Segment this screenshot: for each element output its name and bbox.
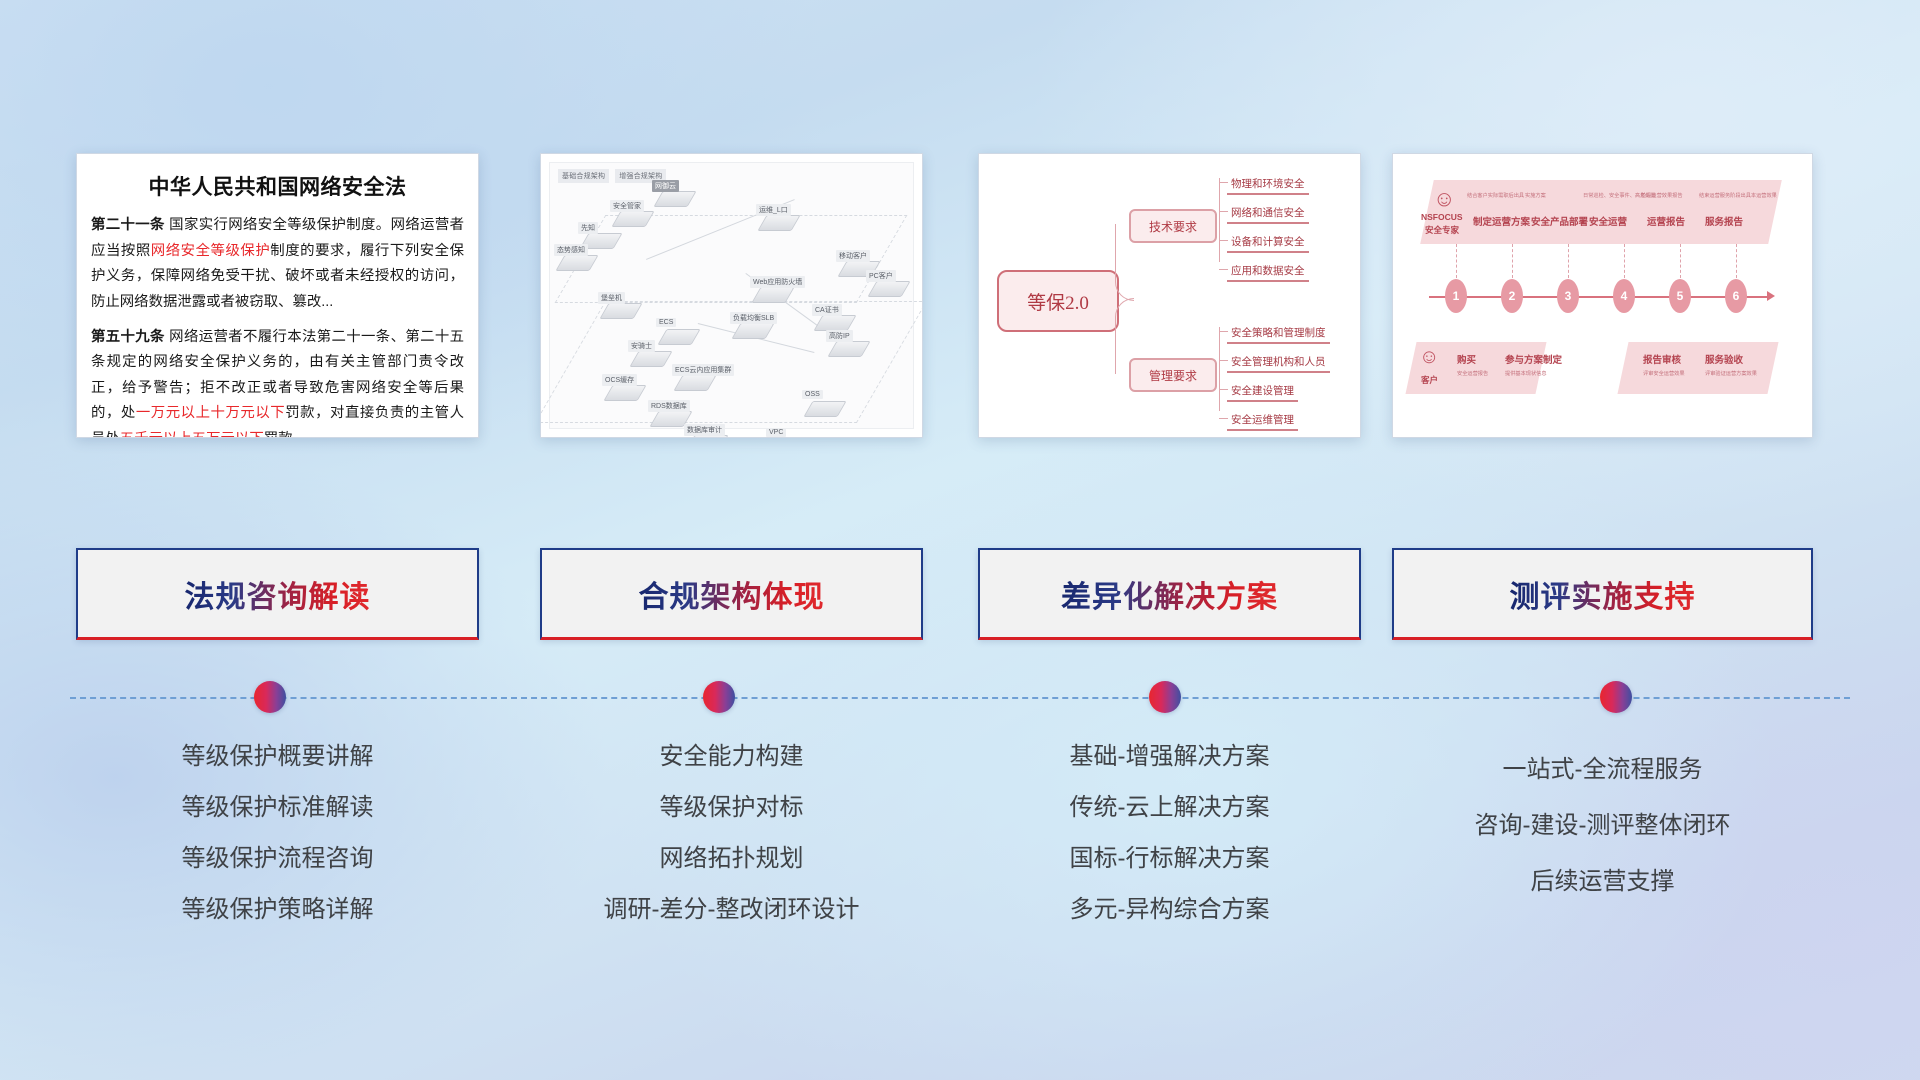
- feature-list-item: 多元-异构综合方案: [978, 898, 1361, 922]
- title-label: 测评实施支持: [1510, 572, 1696, 616]
- expert-person-icon: ☺: [1433, 186, 1455, 212]
- architecture-node-label: ECS: [656, 318, 676, 327]
- roadmap-bottom-item-sub: 提供基本现状信息: [1505, 370, 1547, 377]
- feature-list-item: 传统-云上解决方案: [978, 796, 1361, 820]
- customer-person-icon: ☺: [1419, 346, 1439, 369]
- mindmap-leaf-connector: [1219, 211, 1228, 213]
- architecture-node-shape: [803, 401, 846, 417]
- card-dengbao-mindmap: 等保2.0 技术要求 管理要求 物理和环境安全网络和通信安全设备和计算安全应用和…: [978, 153, 1361, 438]
- roadmap-step-marker[interactable]: 2: [1501, 279, 1523, 313]
- feature-list-item: 咨询-建设-测评整体闭环: [1392, 814, 1813, 838]
- mindmap-spine-management: [1219, 327, 1220, 411]
- mindmap: 等保2.0 技术要求 管理要求 物理和环境安全网络和通信安全设备和计算安全应用和…: [987, 162, 1352, 429]
- roadmap-bottom-item-title: 购买: [1457, 352, 1476, 366]
- architecture-node-shape: [657, 329, 700, 345]
- architecture-node-label: Web应用防火墙: [750, 276, 805, 288]
- architecture-node-label: OCS缓存: [602, 374, 637, 386]
- roadmap-step-marker[interactable]: 6: [1725, 279, 1747, 313]
- architecture-node: 运维_L口: [762, 215, 796, 231]
- architecture-node: 安骑士: [634, 351, 668, 367]
- architecture-diagram: 基础合规架构 增强合规架构 网御云安全管家先知态势感知堡垒机ECS安骑士OCS缓…: [549, 162, 914, 429]
- roadmap-bottom-item-sub: 评审验证运营方案效果: [1705, 370, 1757, 377]
- architecture-node: ECS云内应用集群: [678, 375, 712, 391]
- feature-list-item: 等级保护策略详解: [76, 898, 479, 922]
- roadmap-step-tick: [1736, 244, 1737, 278]
- feature-list-architecture: 安全能力构建等级保护对标网络拓扑规划调研-差分-整改闭环设计: [540, 745, 923, 949]
- roadmap-bottom-item-title: 服务验收: [1705, 352, 1743, 366]
- mindmap-leaf-connector: [1219, 360, 1228, 362]
- timeline-dot-1[interactable]: [254, 681, 286, 713]
- title-label: 差异化解决方案: [1061, 572, 1278, 616]
- architecture-node-label: 堡垒机: [598, 292, 625, 304]
- architecture-node-label: OSS: [802, 390, 823, 399]
- law-text-highlight: 网络安全等级保护: [151, 243, 271, 259]
- roadmap-step-marker[interactable]: 1: [1445, 279, 1467, 313]
- card-service-roadmap: ☺ NSFOCUS 安全专家 ☺ 客户 123456 结合客户实际需职后出具制定…: [1392, 153, 1813, 438]
- feature-list-item: 等级保护对标: [540, 796, 923, 820]
- roadmap-step-tick: [1680, 244, 1681, 278]
- mindmap-leaf-connector: [1219, 269, 1228, 271]
- mindmap-leaf: 安全运维管理: [1227, 412, 1298, 431]
- roadmap-bottom-item-sub: 评审安全运营效果: [1643, 370, 1685, 377]
- architecture-node: 网御云: [658, 191, 692, 207]
- architecture-node: CA证书: [818, 315, 852, 331]
- feature-list-solution: 基础-增强解决方案传统-云上解决方案国标-行标解决方案多元-异构综合方案: [978, 745, 1361, 949]
- mindmap-leaf: 安全管理机构和人员: [1227, 354, 1330, 373]
- architecture-node-shape: [603, 385, 646, 401]
- mindmap-leaf-connector: [1219, 240, 1228, 242]
- feature-list-item: 安全能力构建: [540, 745, 923, 769]
- roadmap-top-item-sub: 阶段运营效果报告: [1641, 192, 1683, 199]
- title-label: 合规架构体现: [639, 572, 825, 616]
- mindmap-branch-technical: 技术要求: [1129, 209, 1217, 243]
- architecture-node-label: 移动客户: [836, 250, 870, 262]
- law-article-number: 第五十九条: [91, 329, 165, 345]
- roadmap-step-tick: [1568, 244, 1569, 278]
- feature-list-item: 一站式-全流程服务: [1392, 758, 1813, 782]
- roadmap-step-tick: [1512, 244, 1513, 278]
- architecture-node-shape: [599, 303, 642, 319]
- mindmap-leaf: 网络和通信安全: [1227, 205, 1309, 224]
- roadmap-top-item-title: 服务报告: [1705, 214, 1743, 228]
- roadmap-top-item-title: 安全产品部署: [1531, 214, 1588, 228]
- architecture-node: PC客户: [872, 281, 906, 297]
- law-text-segment: 罚款。: [264, 431, 307, 438]
- timeline-dot-4[interactable]: [1600, 681, 1632, 713]
- law-card-body: 第二十一条 国家实行网络安全等级保护制度。网络运营者应当按照网络安全等级保护制度…: [77, 213, 478, 438]
- feature-list-item: 基础-增强解决方案: [978, 745, 1361, 769]
- architecture-tabs: 基础合规架构 增强合规架构: [558, 169, 666, 183]
- mindmap-leaf-connector: [1219, 418, 1228, 420]
- law-paragraph-59: 第五十九条 网络运营者不履行本法第二十一条、第二十五条规定的网络安全保护义务的，…: [91, 325, 464, 438]
- roadmap-axis: [1429, 296, 1769, 298]
- law-text-highlight: 一万元以上十万元以下: [136, 405, 285, 421]
- architecture-node-label: 安全管家: [610, 200, 644, 212]
- architecture-node-label: RDS数据库: [648, 400, 690, 412]
- architecture-node-label: VPC: [766, 428, 786, 437]
- architecture-node-label: 数据库审计: [684, 424, 725, 436]
- poster-stage: 中华人民共和国网络安全法 第二十一条 国家实行网络安全等级保护制度。网络运营者应…: [0, 0, 1920, 1080]
- architecture-node-label: 安骑士: [628, 340, 655, 352]
- architecture-node-shape: [611, 211, 654, 227]
- architecture-node: 数据库审计: [690, 435, 724, 438]
- architecture-node-shape: [629, 351, 672, 367]
- title-box-regulation-consulting[interactable]: 法规咨询解读: [76, 548, 479, 640]
- mindmap-leaf-connector: [1219, 331, 1228, 333]
- roadmap-top-item-title: 制定运营方案: [1473, 214, 1530, 228]
- mindmap-leaf-connector: [1219, 182, 1228, 184]
- architecture-node-shape: [867, 281, 910, 297]
- roadmap-step-marker[interactable]: 3: [1557, 279, 1579, 313]
- mindmap-leaf: 安全策略和管理制度: [1227, 325, 1330, 344]
- roadmap-band-customer-right: [1617, 342, 1778, 394]
- roadmap-top-item-sub: 实施方案: [1525, 192, 1546, 199]
- roadmap-top-item-sub: 结束运营服务阶段出具本运营效果: [1699, 192, 1777, 199]
- timeline-dashed-line: [70, 697, 1850, 699]
- architecture-node: OCS缓存: [608, 385, 642, 401]
- feature-list-item: 网络拓扑规划: [540, 847, 923, 871]
- title-box-differentiated-solution[interactable]: 差异化解决方案: [978, 548, 1361, 640]
- feature-list-item: 等级保护概要讲解: [76, 745, 479, 769]
- architecture-node-shape: [653, 191, 696, 207]
- feature-list-assessment: 一站式-全流程服务咨询-建设-测评整体闭环后续运营支撑: [1392, 758, 1813, 926]
- law-article-number: 第二十一条: [91, 217, 165, 233]
- mindmap-leaf-connector: [1219, 389, 1228, 391]
- law-text-highlight: 五千元以上五万元以下: [120, 431, 264, 438]
- architecture-node: 安全管家: [616, 211, 650, 227]
- roadmap-diagram: ☺ NSFOCUS 安全专家 ☺ 客户 123456 结合客户实际需职后出具制定…: [1405, 166, 1800, 425]
- architecture-node: RDS数据库: [654, 411, 688, 427]
- architecture-node-label: 态势感知: [554, 244, 588, 256]
- feature-list-item: 调研-差分-整改闭环设计: [540, 898, 923, 922]
- architecture-node-shape: [751, 287, 794, 303]
- title-box-compliance-architecture[interactable]: 合规架构体现: [540, 548, 923, 640]
- architecture-node-label: 网御云: [652, 180, 679, 192]
- architecture-node: 堡垒机: [604, 303, 638, 319]
- architecture-node-shape: [813, 315, 856, 331]
- mindmap-leaf: 安全建设管理: [1227, 383, 1298, 402]
- feature-list-item: 等级保护标准解读: [76, 796, 479, 820]
- title-box-assessment-support[interactable]: 测评实施支持: [1392, 548, 1813, 640]
- roadmap-step-marker[interactable]: 5: [1669, 279, 1691, 313]
- architecture-node-shape: [555, 255, 598, 271]
- roadmap-bottom-item-title: 参与方案制定: [1505, 352, 1562, 366]
- architecture-node: 高防IP: [832, 341, 866, 357]
- architecture-node-label: 高防IP: [826, 330, 853, 342]
- roadmap-step-tick: [1624, 244, 1625, 278]
- mindmap-leaf: 应用和数据安全: [1227, 263, 1309, 282]
- architecture-node-shape: [731, 323, 774, 339]
- architecture-node: 先知: [584, 233, 618, 249]
- mindmap-leaf: 物理和环境安全: [1227, 176, 1309, 195]
- mindmap-branch-management: 管理要求: [1129, 358, 1217, 392]
- roadmap-customer-label: 客户: [1421, 374, 1438, 386]
- roadmap-band-expert: [1420, 180, 1782, 244]
- architecture-node-label: PC客户: [866, 270, 896, 282]
- roadmap-top-item-title: 安全运营: [1589, 214, 1627, 228]
- law-paragraph-21: 第二十一条 国家实行网络安全等级保护制度。网络运营者应当按照网络安全等级保护制度…: [91, 213, 464, 316]
- roadmap-bottom-item-title: 报告审核: [1643, 352, 1681, 366]
- card-compliance-architecture: 基础合规架构 增强合规架构 网御云安全管家先知态势感知堡垒机ECS安骑士OCS缓…: [540, 153, 923, 438]
- roadmap-expert-label-line2: 安全专家: [1425, 224, 1459, 236]
- architecture-node-label: 运维_L口: [756, 204, 791, 216]
- architecture-node-shape: [827, 341, 870, 357]
- law-card-title: 中华人民共和国网络安全法: [77, 171, 478, 201]
- architecture-node-label: 负载均衡SLB: [730, 312, 777, 324]
- roadmap-axis-arrow: [1767, 291, 1775, 301]
- architecture-node-label: ECS云内应用集群: [672, 364, 734, 376]
- architecture-node-label: 先知: [578, 222, 598, 234]
- architecture-node: OSS: [808, 401, 842, 417]
- timeline-dot-2[interactable]: [703, 681, 735, 713]
- timeline-dot-3[interactable]: [1149, 681, 1181, 713]
- roadmap-bottom-item-sub: 安全运营报告: [1457, 370, 1488, 377]
- feature-list-regulation: 等级保护概要讲解等级保护标准解读等级保护流程咨询等级保护策略详解: [76, 745, 479, 949]
- feature-list-item: 等级保护流程咨询: [76, 847, 479, 871]
- image-cards-row: 中华人民共和国网络安全法 第二十一条 国家实行网络安全等级保护制度。网络运营者应…: [0, 0, 1920, 460]
- architecture-node-shape: [673, 375, 716, 391]
- mindmap-root-node: 等保2.0: [997, 270, 1119, 332]
- architecture-node: 负载均衡SLB: [736, 323, 770, 339]
- card-cybersecurity-law: 中华人民共和国网络安全法 第二十一条 国家实行网络安全等级保护制度。网络运营者应…: [76, 153, 479, 438]
- architecture-tab-basic: 基础合规架构: [558, 169, 609, 183]
- roadmap-top-item-title: 运营报告: [1647, 214, 1685, 228]
- title-label: 法规咨询解读: [185, 572, 371, 616]
- roadmap-expert-label-line1: NSFOCUS: [1421, 212, 1463, 222]
- architecture-node: 态势感知: [560, 255, 594, 271]
- feature-list-item: 国标-行标解决方案: [978, 847, 1361, 871]
- roadmap-top-item-sub: 结合客户实际需职后出具: [1467, 192, 1524, 199]
- feature-list-item: 后续运营支撑: [1392, 870, 1813, 894]
- mindmap-spine-technical: [1219, 178, 1220, 262]
- architecture-node-shape: [757, 215, 800, 231]
- architecture-node-label: CA证书: [812, 304, 842, 316]
- roadmap-step-marker[interactable]: 4: [1613, 279, 1635, 313]
- roadmap-step-tick: [1456, 244, 1457, 278]
- architecture-node: Web应用防火墙: [756, 287, 790, 303]
- mindmap-leaf: 设备和计算安全: [1227, 234, 1309, 253]
- architecture-node: ECS: [662, 329, 696, 345]
